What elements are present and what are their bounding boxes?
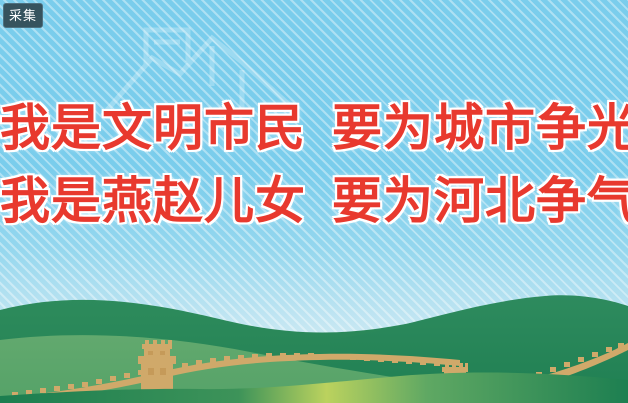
poster-image: 我是文明市民要为城市争光 我是燕赵儿女要为河北争气 采集 xyxy=(0,0,628,403)
watchtower-left-windows xyxy=(148,351,166,375)
headline-line-2: 我是燕赵儿女要为河北争气 xyxy=(0,165,628,238)
headline-block: 我是文明市民要为城市争光 我是燕赵儿女要为河北争气 xyxy=(0,92,628,238)
headline-line-2-right: 要为河北争气 xyxy=(332,172,628,230)
hill-foreground xyxy=(0,373,628,403)
hill-mid-light xyxy=(0,335,628,403)
watchtower-right xyxy=(438,363,472,403)
capture-button[interactable]: 采集 xyxy=(3,3,43,28)
hill-right-dark xyxy=(330,295,628,403)
headline-line-1-right: 要为城市争光 xyxy=(332,99,628,157)
hill-back-ridge xyxy=(0,300,628,403)
headline-line-1-left: 我是文明市民 xyxy=(0,99,306,157)
great-wall-left xyxy=(0,340,460,403)
watchtower-left xyxy=(138,340,176,394)
great-wall-right xyxy=(418,343,628,403)
headline-line-1: 我是文明市民要为城市争光 xyxy=(0,92,628,165)
watchtower-right-windows xyxy=(447,373,463,395)
headline-line-2-left: 我是燕赵儿女 xyxy=(0,172,306,230)
